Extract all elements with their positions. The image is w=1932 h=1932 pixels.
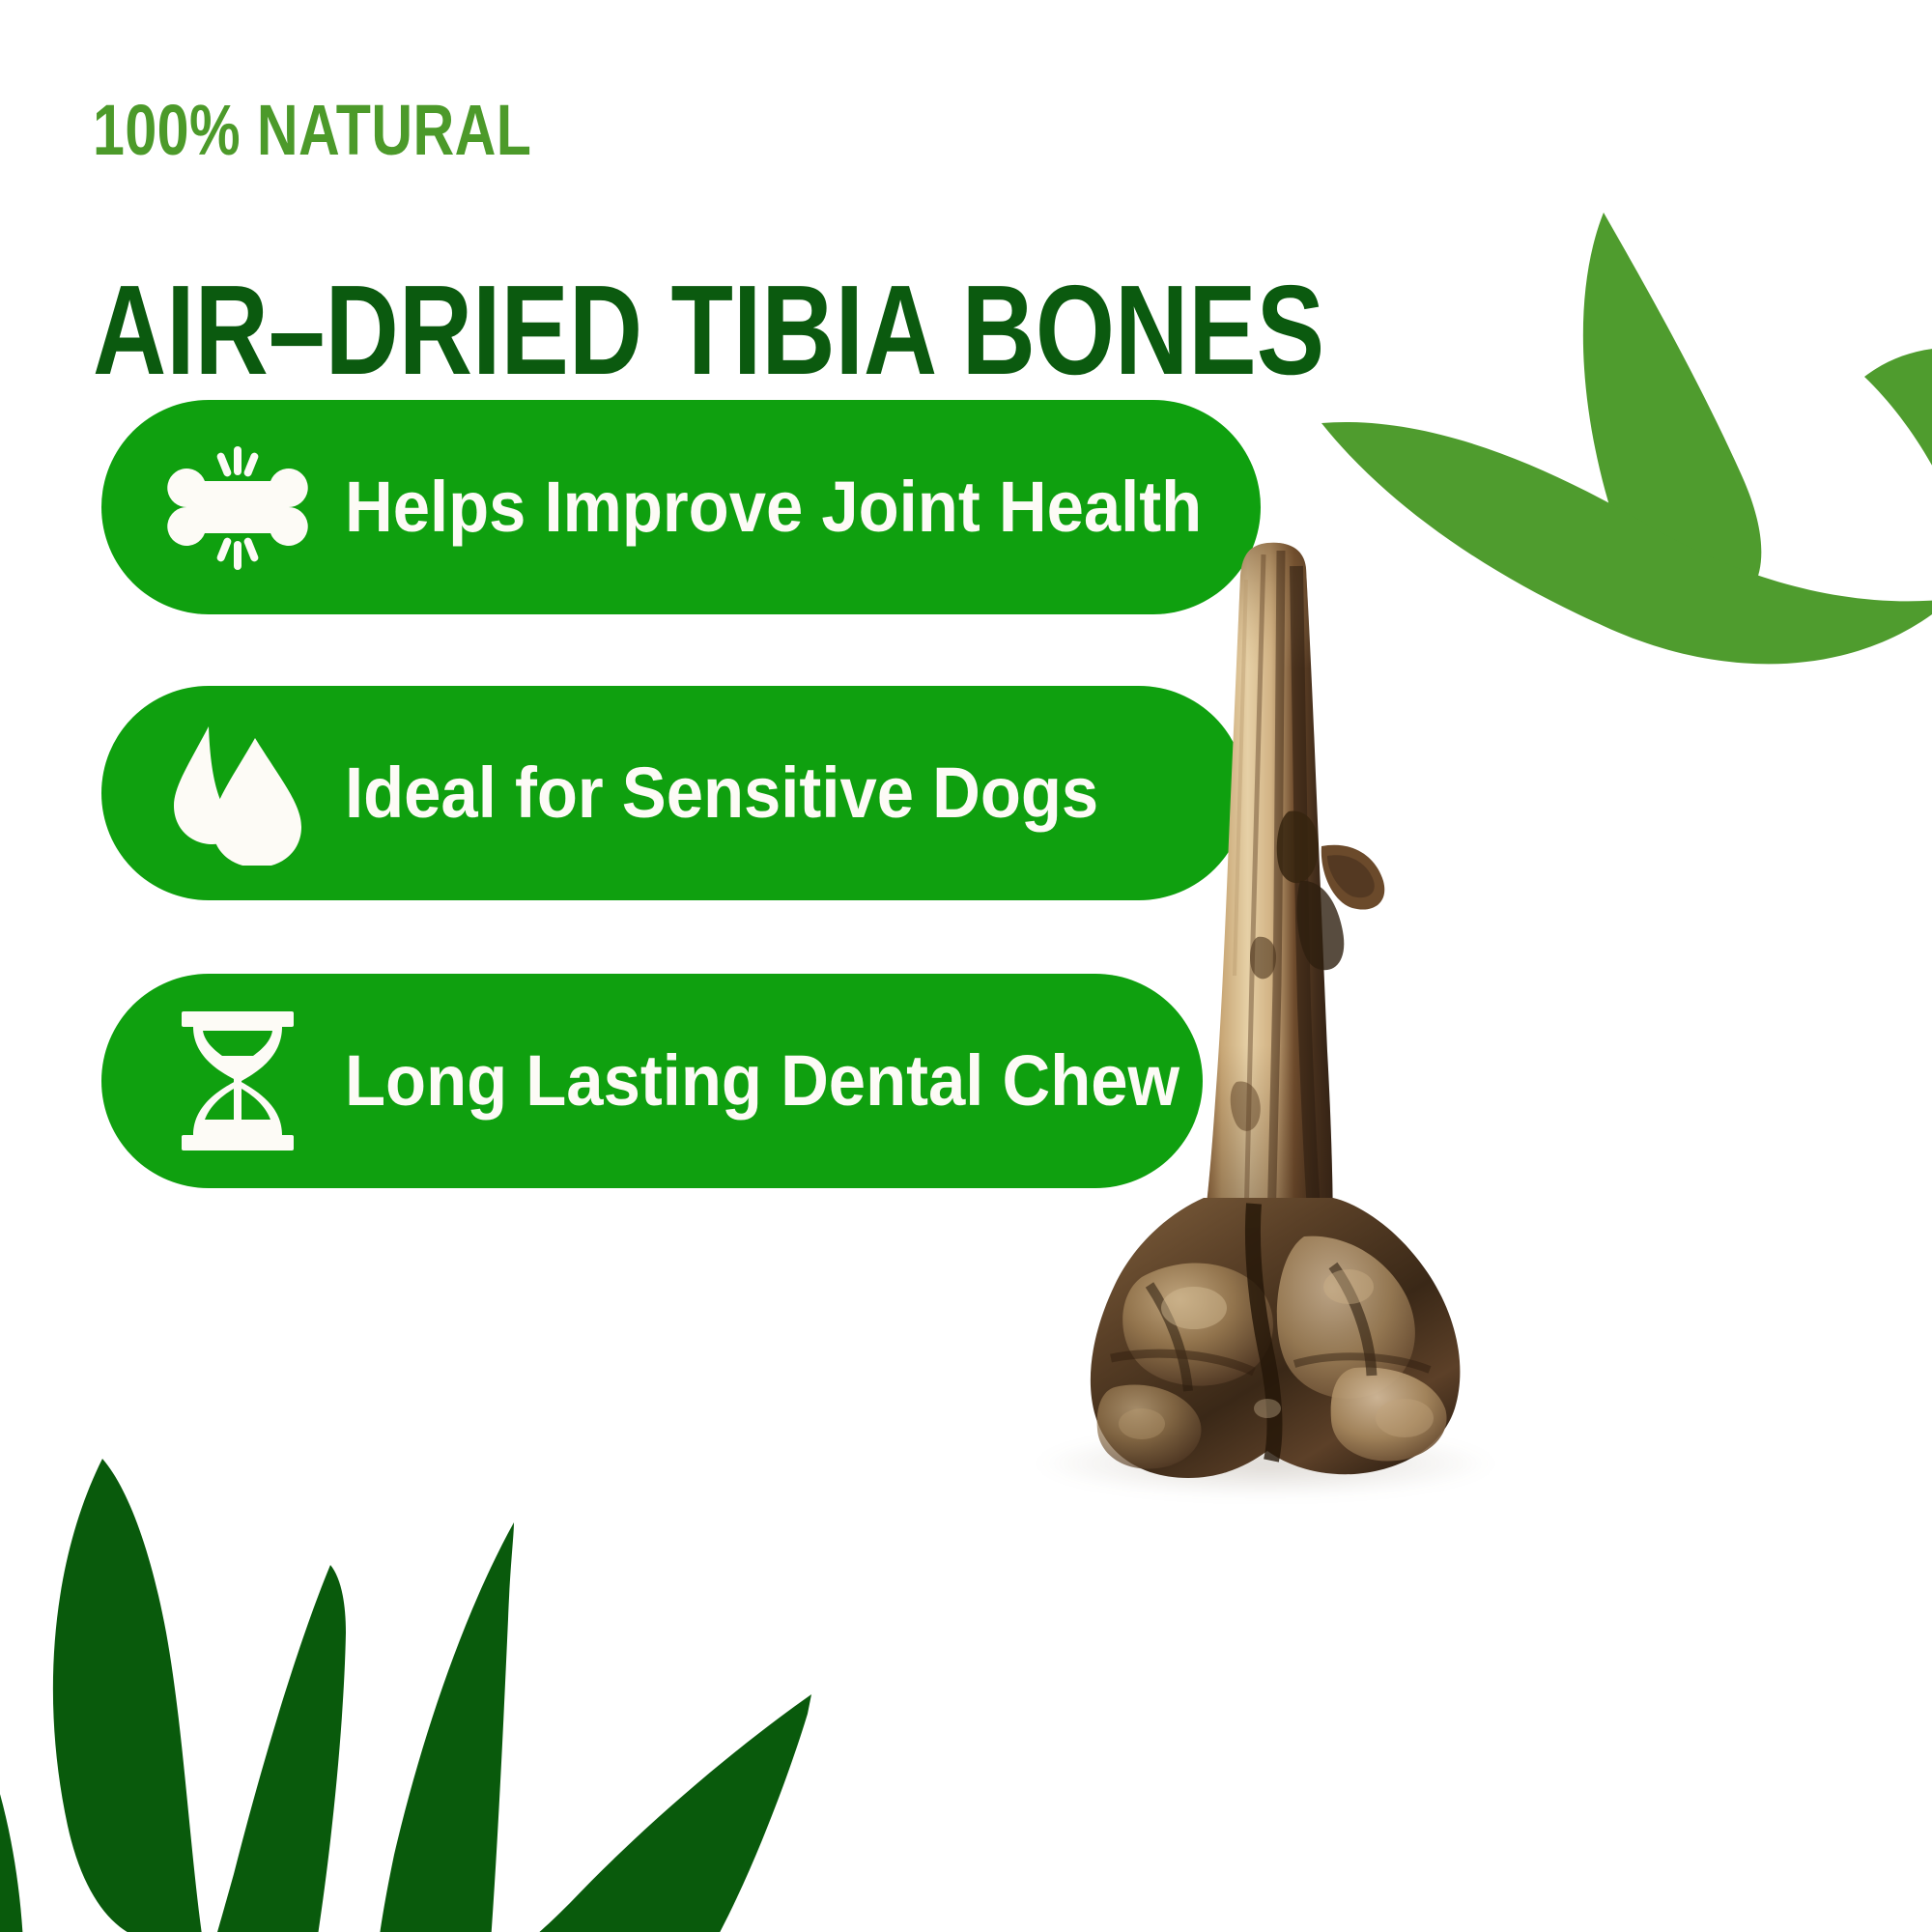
benefit-list: Helps Improve Joint Health Ideal for Sen… (0, 0, 1932, 1932)
air-dried-tibia-bone-photo (1014, 522, 1517, 1507)
infographic-canvas: 100% NATURAL AIR–DRIED TIBIA BONES (0, 0, 1932, 1932)
benefit-label: Ideal for Sensitive Dogs (345, 755, 1098, 831)
bone-sparkle-icon (156, 440, 320, 575)
water-droplet-smile-icon (156, 725, 320, 861)
hourglass-icon (156, 1013, 320, 1149)
